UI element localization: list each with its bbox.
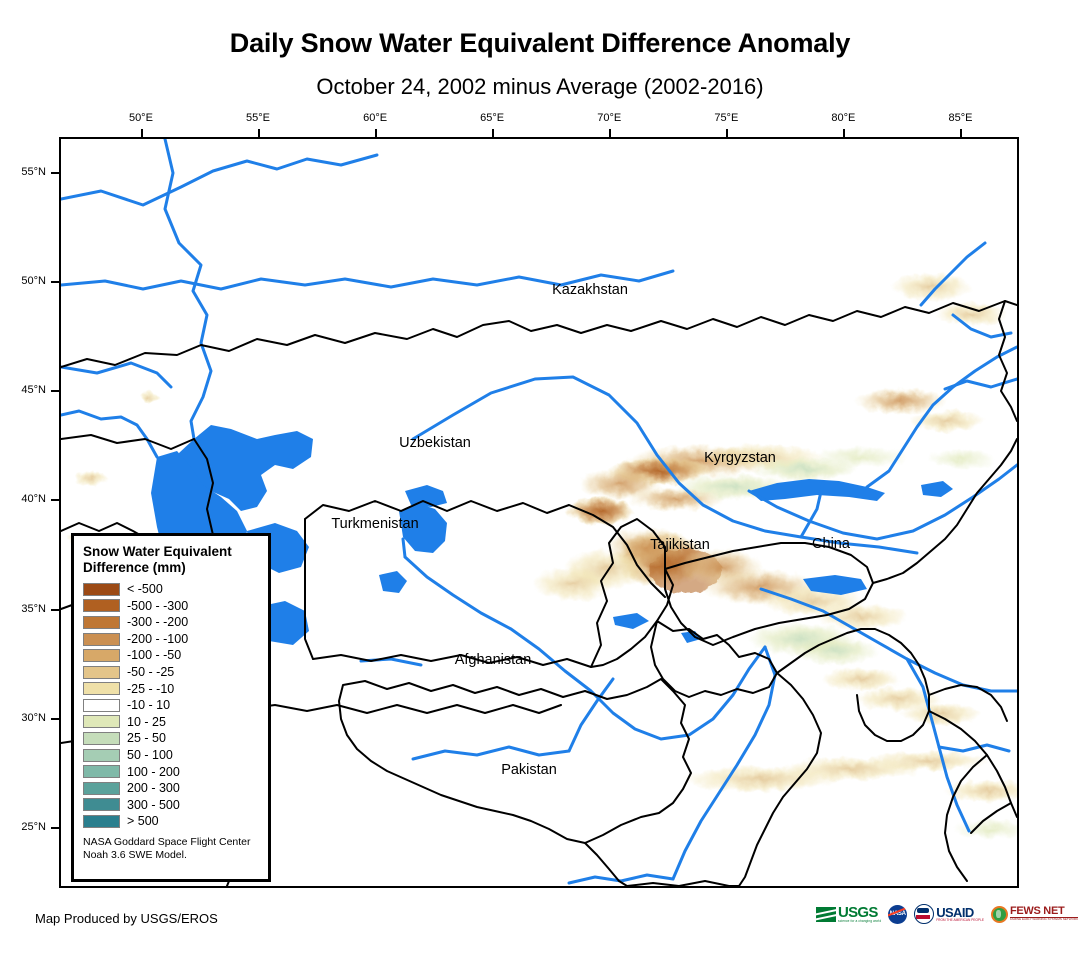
usgs-wave-icon xyxy=(816,907,836,922)
usgs-wordmark: USGS xyxy=(838,905,881,920)
page-subtitle: October 24, 2002 minus Average (2002-201… xyxy=(0,74,1080,100)
legend-swatch xyxy=(83,649,120,662)
legend-credit-line2: Noah 3.6 SWE Model. xyxy=(83,849,260,862)
latitude-tick xyxy=(51,390,59,392)
longitude-tick-label: 80°E xyxy=(831,112,855,124)
legend-row[interactable]: 100 - 200 xyxy=(83,763,260,780)
legend-swatch xyxy=(83,666,120,679)
legend-row[interactable]: 10 - 25 xyxy=(83,714,260,731)
longitude-tick-label: 75°E xyxy=(714,112,738,124)
legend-row[interactable]: -100 - -50 xyxy=(83,647,260,664)
legend-title: Snow Water Equivalent Difference (mm) xyxy=(83,544,260,577)
longitude-tick xyxy=(843,129,845,137)
longitude-tick xyxy=(960,129,962,137)
map-legend[interactable]: Snow Water Equivalent Difference (mm) < … xyxy=(71,533,271,882)
legend-label: < -500 xyxy=(127,583,163,596)
latitude-tick-label: 55°N xyxy=(21,166,46,178)
nasa-meatball-icon: NASA xyxy=(888,905,907,924)
usaid-tagline: FROM THE AMERICAN PEOPLE xyxy=(936,919,984,922)
legend-label: 25 - 50 xyxy=(127,732,166,745)
longitude-tick xyxy=(726,129,728,137)
legend-swatch xyxy=(83,715,120,728)
legend-swatch xyxy=(83,732,120,745)
legend-swatch xyxy=(83,682,120,695)
latitude-tick-label: 30°N xyxy=(21,712,46,724)
legend-label: 200 - 300 xyxy=(127,782,180,795)
latitude-tick-label: 50°N xyxy=(21,275,46,287)
legend-row[interactable]: -50 - -25 xyxy=(83,664,260,681)
nasa-logo: NASA xyxy=(888,904,907,924)
legend-label: 100 - 200 xyxy=(127,766,180,779)
legend-row[interactable]: -10 - 10 xyxy=(83,697,260,714)
legend-swatch xyxy=(83,782,120,795)
legend-swatch xyxy=(83,633,120,646)
latitude-tick xyxy=(51,499,59,501)
legend-swatch xyxy=(83,583,120,596)
longitude-tick xyxy=(375,129,377,137)
legend-row[interactable]: 50 - 100 xyxy=(83,747,260,764)
legend-label: 50 - 100 xyxy=(127,749,173,762)
legend-swatch xyxy=(83,815,120,828)
legend-row[interactable]: -500 - -300 xyxy=(83,598,260,615)
page-title: Daily Snow Water Equivalent Difference A… xyxy=(0,28,1080,59)
legend-label: -10 - 10 xyxy=(127,699,170,712)
latitude-tick-label: 25°N xyxy=(21,821,46,833)
legend-title-line2: Difference (mm) xyxy=(83,560,260,576)
legend-row[interactable]: 300 - 500 xyxy=(83,797,260,814)
legend-label: 10 - 25 xyxy=(127,716,166,729)
legend-label: -100 - -50 xyxy=(127,649,181,662)
fews-net-logo: FEWS NET FAMINE EARLY WARNING SYSTEMS NE… xyxy=(991,904,1078,924)
usaid-seal-icon xyxy=(914,904,934,924)
legend-row[interactable]: 25 - 50 xyxy=(83,730,260,747)
longitude-tick-label: 70°E xyxy=(597,112,621,124)
logo-bar: USGS science for a changing world NASA U… xyxy=(816,904,1078,924)
footer-credit: Map Produced by USGS/EROS xyxy=(35,911,218,926)
longitude-tick xyxy=(258,129,260,137)
latitude-tick-label: 45°N xyxy=(21,384,46,396)
usgs-tagline: science for a changing world xyxy=(838,920,881,923)
river-amu-mouth xyxy=(403,539,405,557)
legend-swatch xyxy=(83,765,120,778)
legend-row[interactable]: > 500 xyxy=(83,813,260,830)
legend-swatch xyxy=(83,616,120,629)
fews-tagline: FAMINE EARLY WARNING SYSTEMS NETWORK xyxy=(1010,918,1078,921)
longitude-tick xyxy=(492,129,494,137)
legend-row[interactable]: 200 - 300 xyxy=(83,780,260,797)
legend-label: > 500 xyxy=(127,815,159,828)
latitude-tick xyxy=(51,718,59,720)
longitude-tick xyxy=(609,129,611,137)
longitude-tick-label: 60°E xyxy=(363,112,387,124)
longitude-tick xyxy=(141,129,143,137)
latitude-tick-label: 40°N xyxy=(21,493,46,505)
legend-label: -50 - -25 xyxy=(127,666,174,679)
legend-label: 300 - 500 xyxy=(127,799,180,812)
longitude-tick-label: 50°E xyxy=(129,112,153,124)
usaid-wordmark: USAID xyxy=(936,906,984,919)
legend-swatch xyxy=(83,798,120,811)
usgs-logo: USGS science for a changing world xyxy=(816,904,881,924)
longitude-tick-label: 85°E xyxy=(948,112,972,124)
latitude-tick xyxy=(51,281,59,283)
legend-credit-line1: NASA Goddard Space Flight Center xyxy=(83,836,260,849)
legend-label: -25 - -10 xyxy=(127,683,174,696)
longitude-tick-label: 55°E xyxy=(246,112,270,124)
legend-row[interactable]: -200 - -100 xyxy=(83,631,260,648)
legend-row[interactable]: -300 - -200 xyxy=(83,614,260,631)
legend-entries: < -500-500 - -300-300 - -200-200 - -100-… xyxy=(83,581,260,830)
fews-globe-icon xyxy=(991,906,1008,923)
latitude-tick xyxy=(51,827,59,829)
legend-label: -200 - -100 xyxy=(127,633,188,646)
legend-row[interactable]: < -500 xyxy=(83,581,260,598)
latitude-tick-label: 35°N xyxy=(21,603,46,615)
latitude-tick xyxy=(51,172,59,174)
legend-row[interactable]: -25 - -10 xyxy=(83,681,260,698)
longitude-tick-label: 65°E xyxy=(480,112,504,124)
legend-swatch xyxy=(83,599,120,612)
legend-swatch xyxy=(83,699,120,712)
legend-swatch xyxy=(83,749,120,762)
legend-credit: NASA Goddard Space Flight Center Noah 3.… xyxy=(83,836,260,863)
latitude-tick xyxy=(51,609,59,611)
usaid-logo: USAID FROM THE AMERICAN PEOPLE xyxy=(914,904,984,924)
legend-title-line1: Snow Water Equivalent xyxy=(83,544,260,560)
legend-label: -500 - -300 xyxy=(127,600,188,613)
legend-label: -300 - -200 xyxy=(127,616,188,629)
